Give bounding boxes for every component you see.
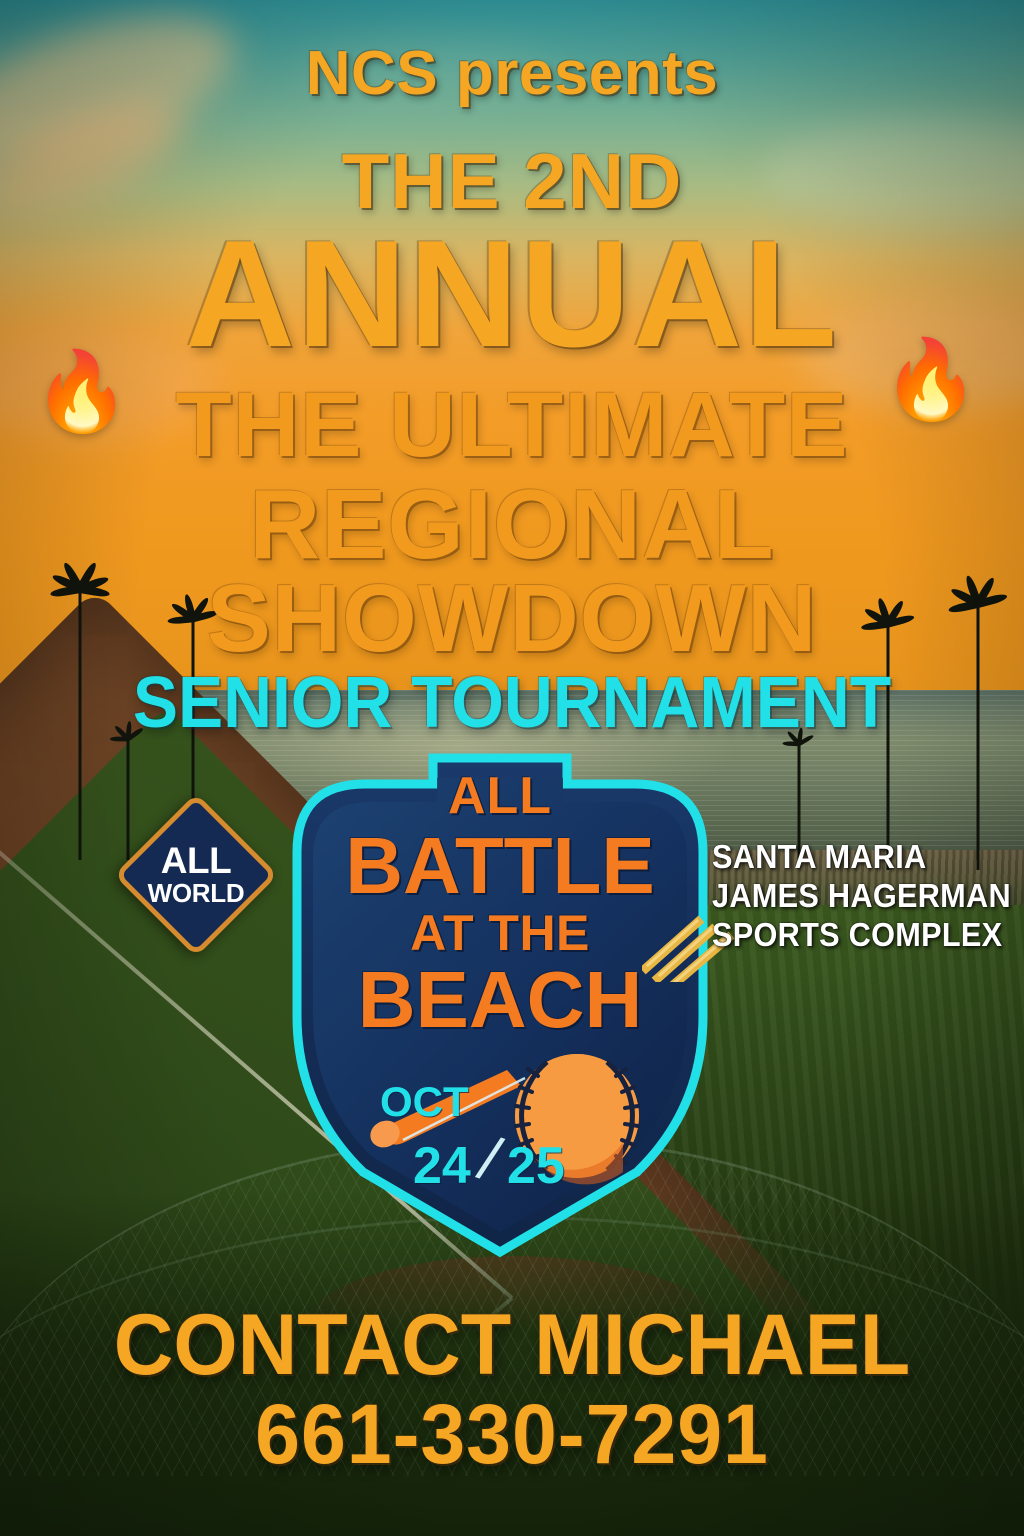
presenter-line: NCS presents — [0, 38, 1024, 109]
subtitle-line-2: REGIONAL — [0, 478, 1024, 570]
logo-day-start: 24 — [413, 1136, 471, 1196]
venue-line-1: SANTA MARIA — [712, 838, 1002, 877]
all-world-sponsor-badge: ALL WORLD — [108, 795, 284, 955]
event-logo-shield: ALL BATTLE AT THE BEACH OCT 24 / 25 — [285, 748, 715, 1260]
venue-line-3: SPORTS COMPLEX — [712, 916, 1002, 955]
logo-word-all: ALL — [285, 766, 715, 826]
contact-name: CONTACT MICHAEL — [20, 1296, 1003, 1395]
logo-date-separator: / — [470, 1123, 508, 1196]
subtitle-line-3: SHOWDOWN — [0, 574, 1024, 664]
contact-phone[interactable]: 661-330-7291 — [20, 1386, 1003, 1483]
all-world-line-2: WORLD — [148, 881, 245, 906]
venue-block: SANTA MARIA JAMES HAGERMAN SPORTS COMPLE… — [712, 838, 1002, 955]
all-world-label: ALL WORLD — [108, 795, 284, 955]
subtitle-line-1: THE ULTIMATE — [0, 382, 1024, 468]
fire-icon: 🔥 — [33, 352, 130, 430]
tournament-flyer: NCS presents THE 2ND ANNUAL THE ULTIMATE… — [0, 0, 1024, 1536]
logo-month: OCT — [380, 1078, 469, 1126]
division-line: SENIOR TOURNAMENT — [31, 662, 994, 744]
shield-text-block: ALL BATTLE AT THE BEACH OCT 24 / 25 — [285, 748, 715, 1260]
logo-word-battle: BATTLE — [285, 820, 715, 912]
page-title: ANNUAL — [0, 218, 1024, 370]
fire-icon: 🔥 — [882, 340, 979, 418]
all-world-line-1: ALL — [161, 843, 231, 879]
venue-line-2: JAMES HAGERMAN — [712, 877, 1002, 916]
logo-day-end: 25 — [507, 1136, 565, 1196]
